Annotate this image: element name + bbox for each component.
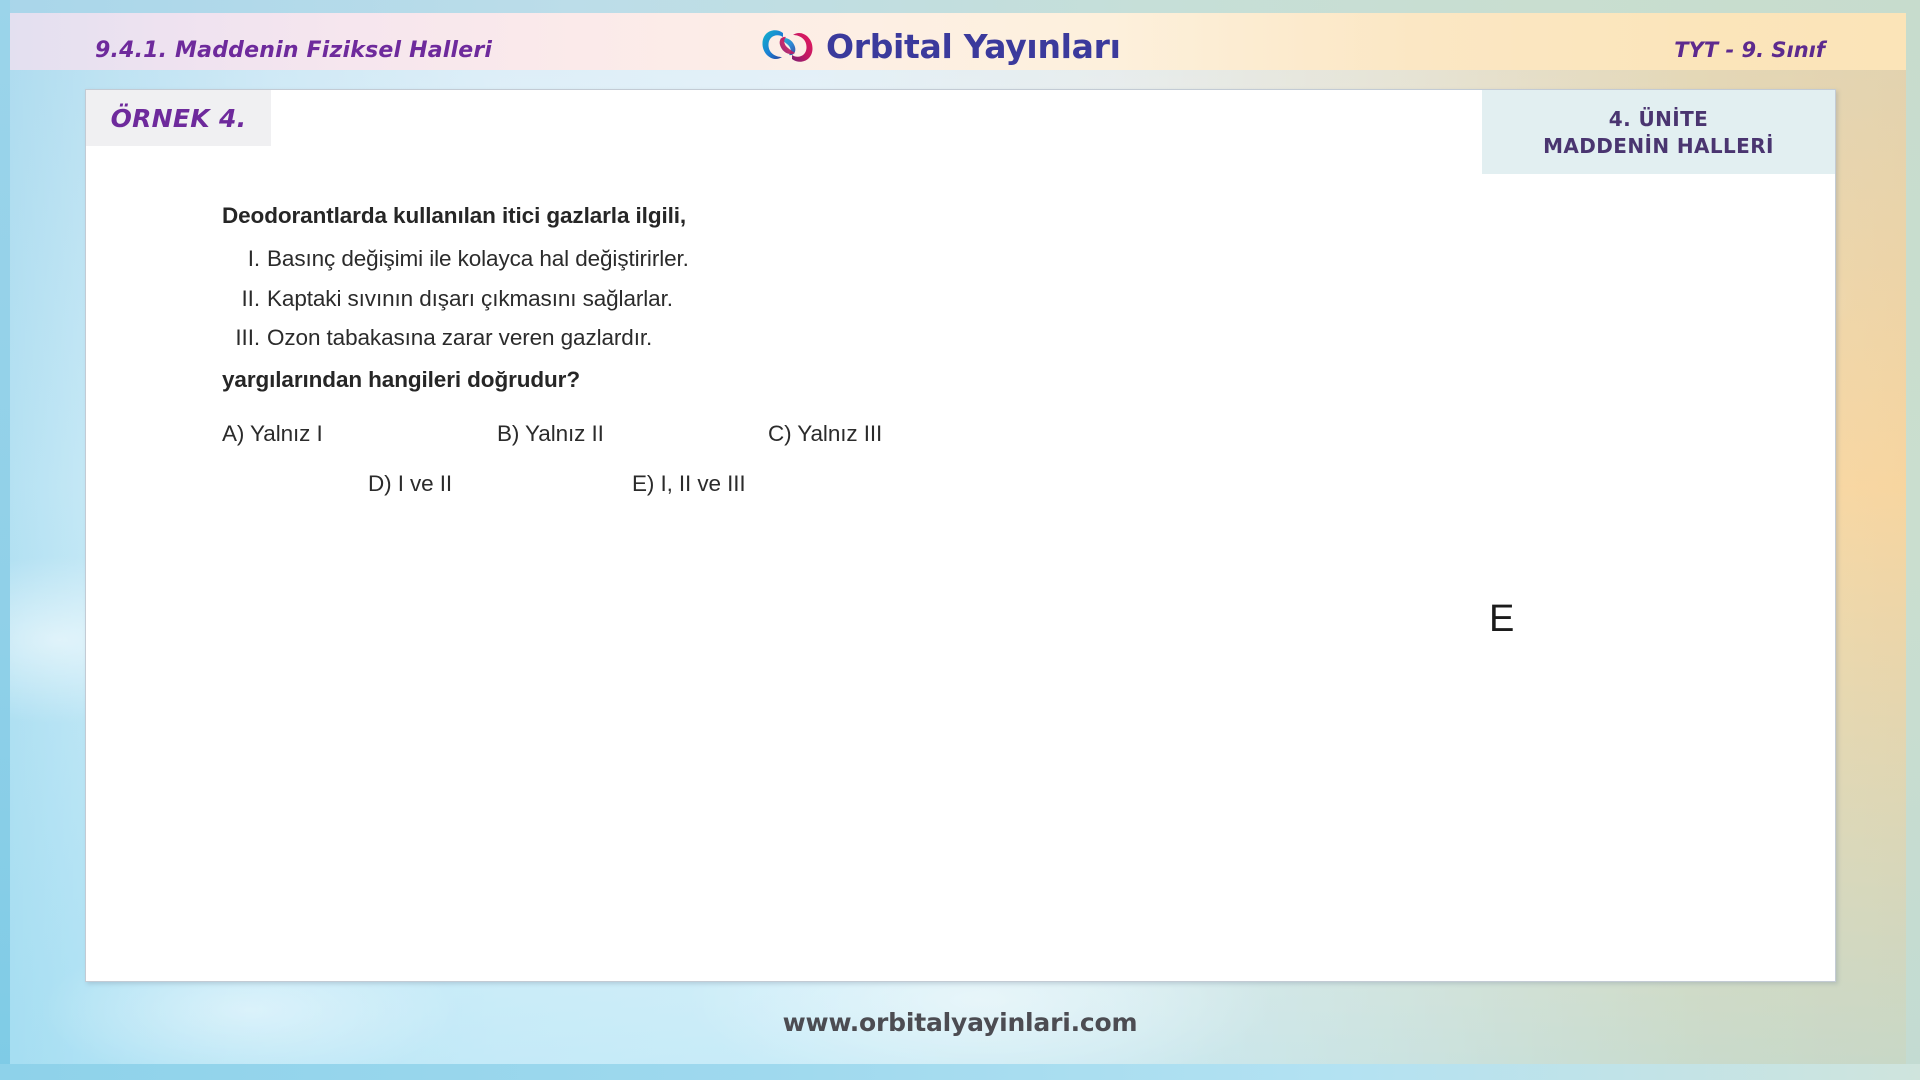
brand-lockup: Orbital Yayınları <box>760 26 1121 66</box>
top-edge-band <box>0 0 1920 13</box>
statement-list: I. Basınç değişimi ile kolayca hal değiş… <box>222 248 1322 350</box>
grade-label: TYT - 9. Sınıf <box>1674 38 1825 62</box>
footer-url: www.orbitalyayinlari.com <box>0 1008 1920 1037</box>
example-badge: ÖRNEK 4. <box>86 90 271 146</box>
statement-numeral: III. <box>222 327 260 350</box>
left-edge-band <box>0 0 10 1080</box>
example-badge-label: ÖRNEK 4. <box>111 104 247 133</box>
bottom-edge-band <box>0 1064 1920 1080</box>
question-prompt: yargılarından hangileri doğrudur? <box>222 367 1322 393</box>
unit-badge: 4. ÜNİTE MADDENİN HALLERİ <box>1482 90 1835 174</box>
option-b[interactable]: B) Yalnız II <box>497 421 604 447</box>
option-c[interactable]: C) Yalnız III <box>768 421 882 447</box>
option-row-top: A) Yalnız I B) Yalnız II C) Yalnız III <box>222 421 1322 471</box>
statement-row: I. Basınç değişimi ile kolayca hal değiş… <box>222 248 1322 271</box>
brand-name: Orbital Yayınları <box>826 27 1121 66</box>
option-a[interactable]: A) Yalnız I <box>222 421 323 447</box>
statement-numeral: II. <box>222 288 260 311</box>
answer-options: A) Yalnız I B) Yalnız II C) Yalnız III D… <box>222 421 1322 521</box>
option-row-bottom: D) I ve II E) I, II ve III <box>222 471 1322 521</box>
right-edge-band <box>1906 0 1920 1080</box>
chapter-title: 9.4.1. Maddenin Fiziksel Halleri <box>95 38 492 63</box>
statement-text: Basınç değişimi ile kolayca hal değiştir… <box>267 248 689 271</box>
statement-text: Kaptaki sıvının dışarı çıkmasını sağlarl… <box>267 288 673 311</box>
option-d[interactable]: D) I ve II <box>368 471 452 497</box>
content-card: ÖRNEK 4. 4. ÜNİTE MADDENİN HALLERİ Deodo… <box>85 89 1836 982</box>
statement-row: II. Kaptaki sıvının dışarı çıkmasını sağ… <box>222 288 1322 311</box>
option-e[interactable]: E) I, II ve III <box>632 471 746 497</box>
statement-numeral: I. <box>222 248 260 271</box>
statement-text: Ozon tabakasına zarar veren gazlardır. <box>267 327 652 350</box>
unit-badge-line2: MADDENİN HALLERİ <box>1543 134 1774 158</box>
statement-row: III. Ozon tabakasına zarar veren gazlard… <box>222 327 1322 350</box>
question-block: Deodorantlarda kullanılan itici gazlarla… <box>222 202 1322 521</box>
unit-badge-line1: 4. ÜNİTE <box>1609 107 1708 131</box>
answer-mark: E <box>1489 598 1514 641</box>
orbital-infinity-logo-icon <box>760 26 815 66</box>
slide-root: 9.4.1. Maddenin Fiziksel Halleri <box>0 0 1920 1080</box>
question-stem: Deodorantlarda kullanılan itici gazlarla… <box>222 202 1322 230</box>
